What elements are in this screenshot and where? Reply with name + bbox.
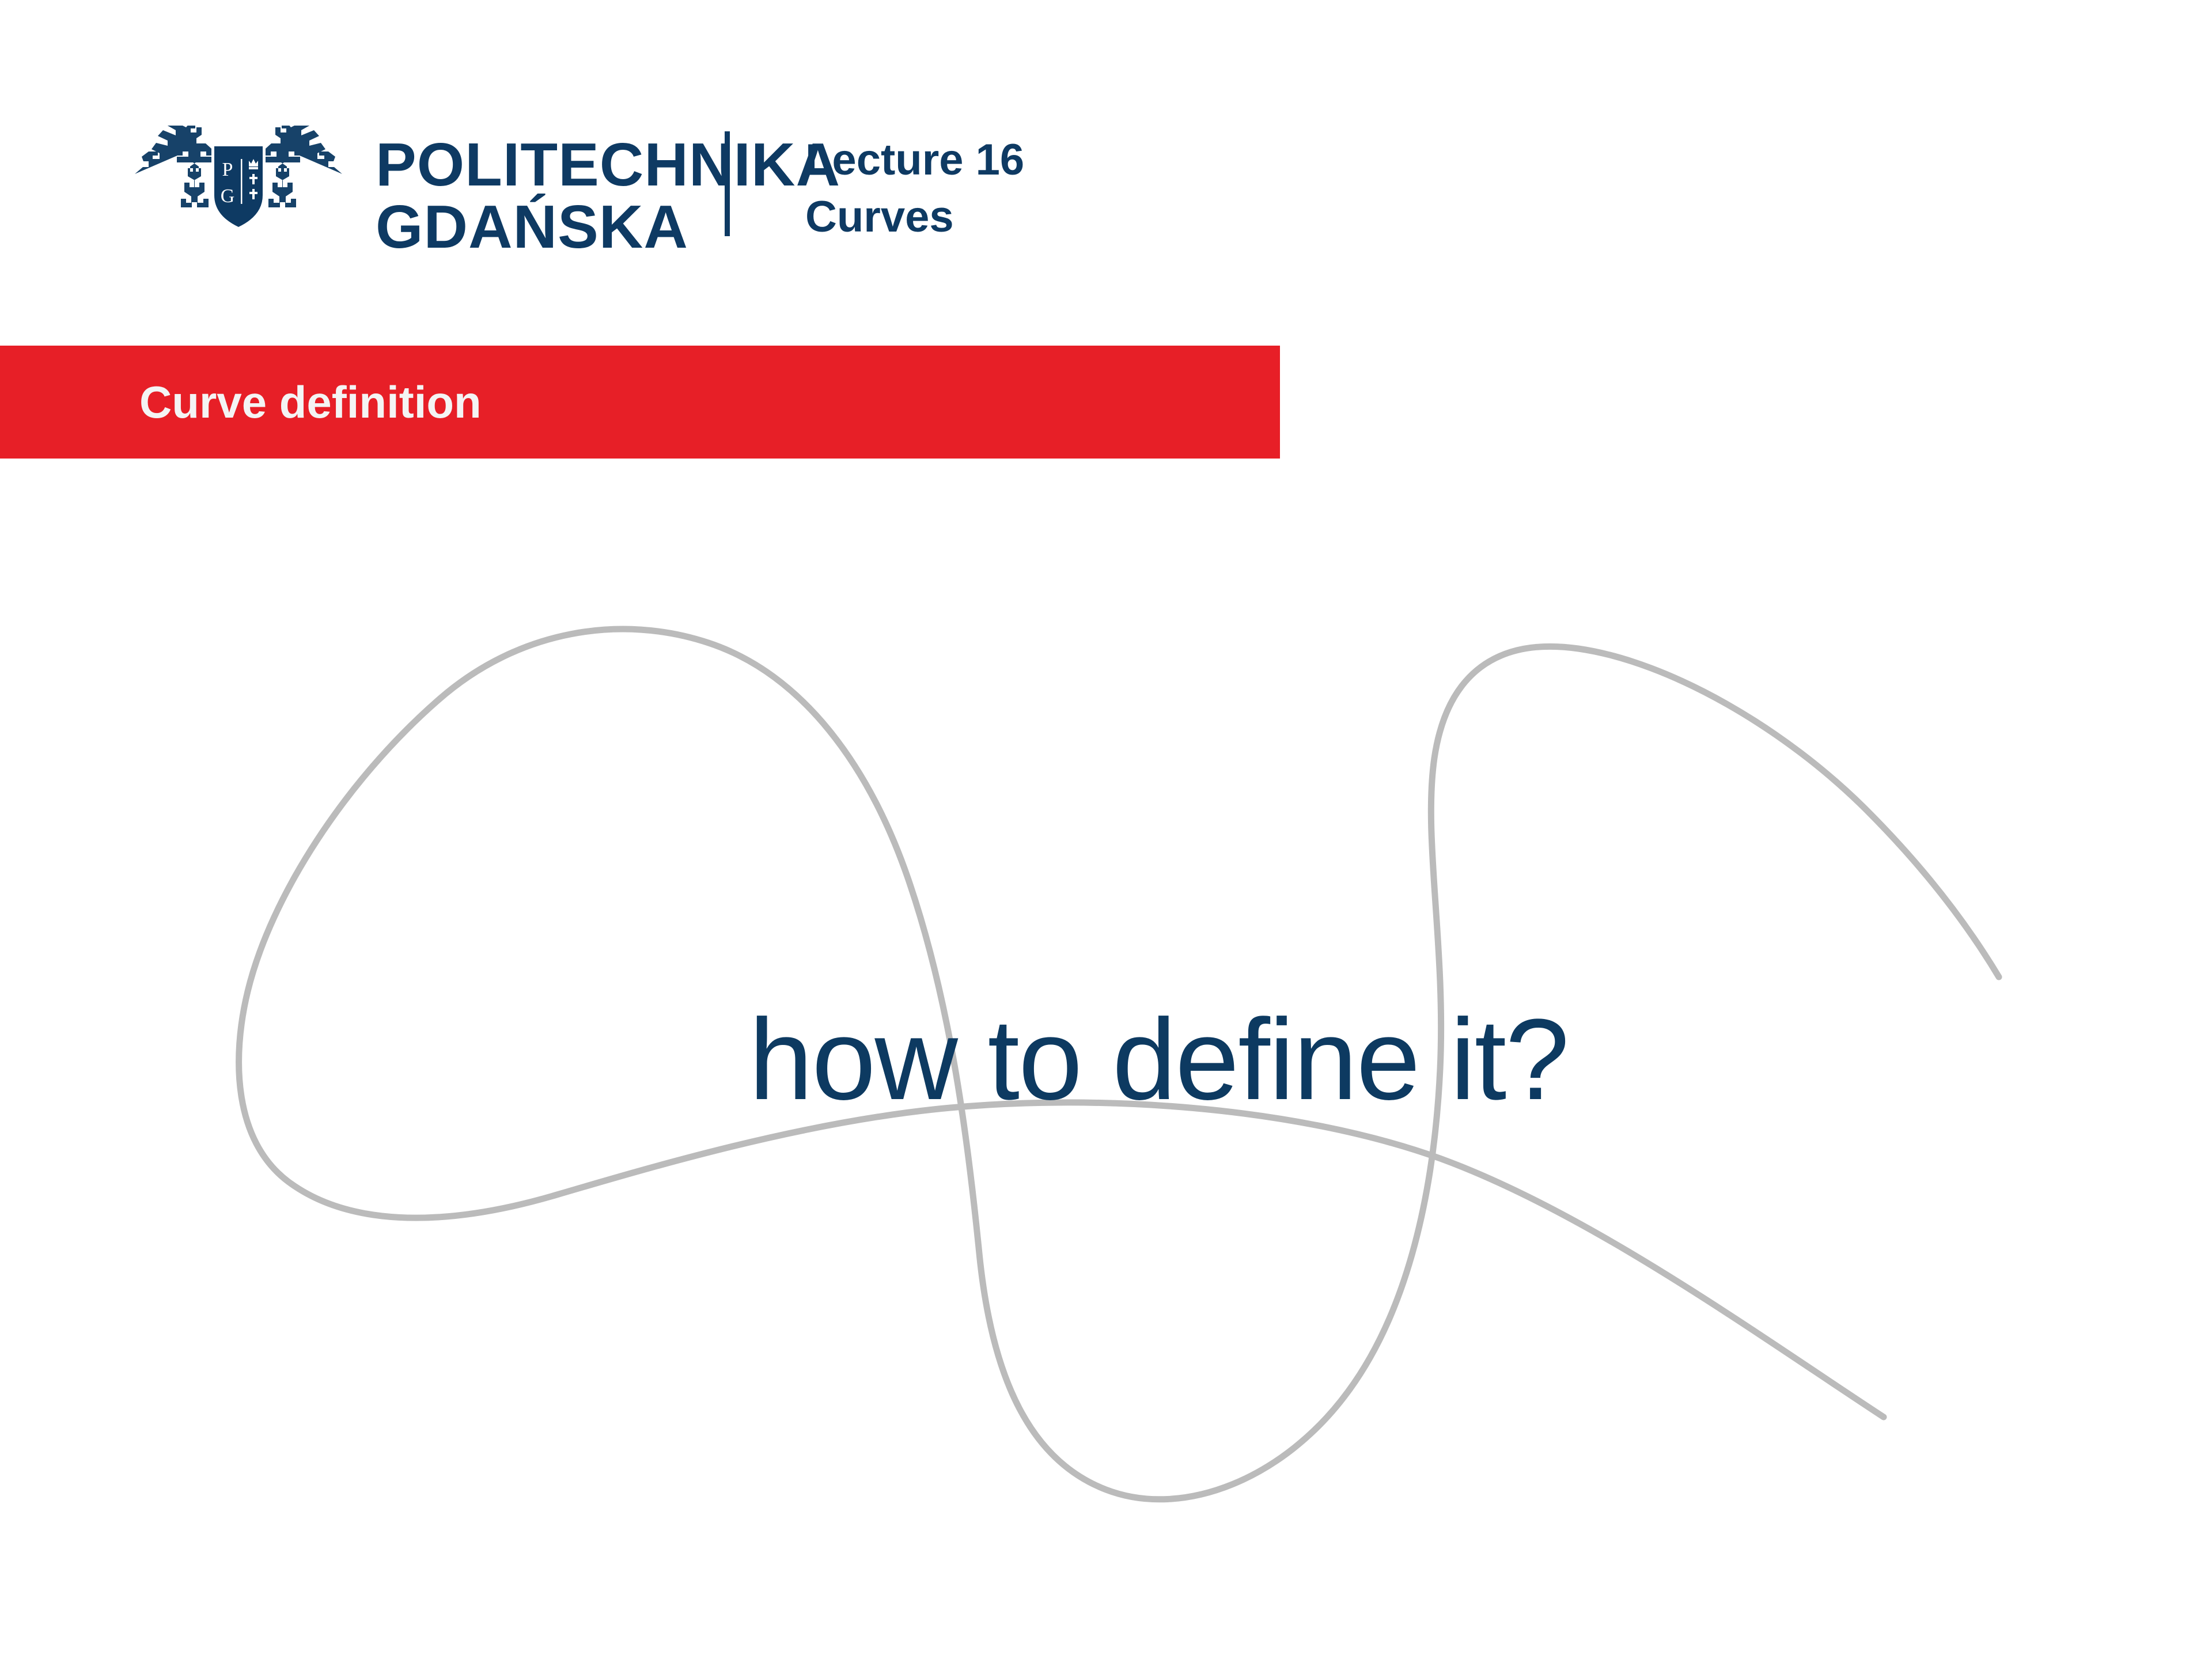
brand-line-2: GDAŃSKA <box>376 196 840 258</box>
lecture-number: Lecture 16 <box>805 135 1024 184</box>
lecture-topic: Curves <box>805 188 1024 245</box>
slide-root: P G POLITECHNIKA GDAŃSKA Lecture 16 Curv… <box>0 0 2212 1659</box>
lecture-label: Lecture 16 Curves <box>805 131 1024 245</box>
brand-wordmark: POLITECHNIKA GDAŃSKA <box>376 134 840 258</box>
politechnika-gdanska-crest-icon: P G <box>131 126 346 235</box>
brand-line-1: POLITECHNIKA <box>376 131 840 199</box>
svg-text:P: P <box>222 159 233 180</box>
slide-header: P G POLITECHNIKA GDAŃSKA Lecture 16 Curv… <box>0 0 2212 346</box>
section-title: Curve definition <box>139 377 482 427</box>
vertical-divider <box>725 131 730 236</box>
svg-text:G: G <box>221 185 235 207</box>
headline-question: how to define it? <box>749 1002 1569 1118</box>
